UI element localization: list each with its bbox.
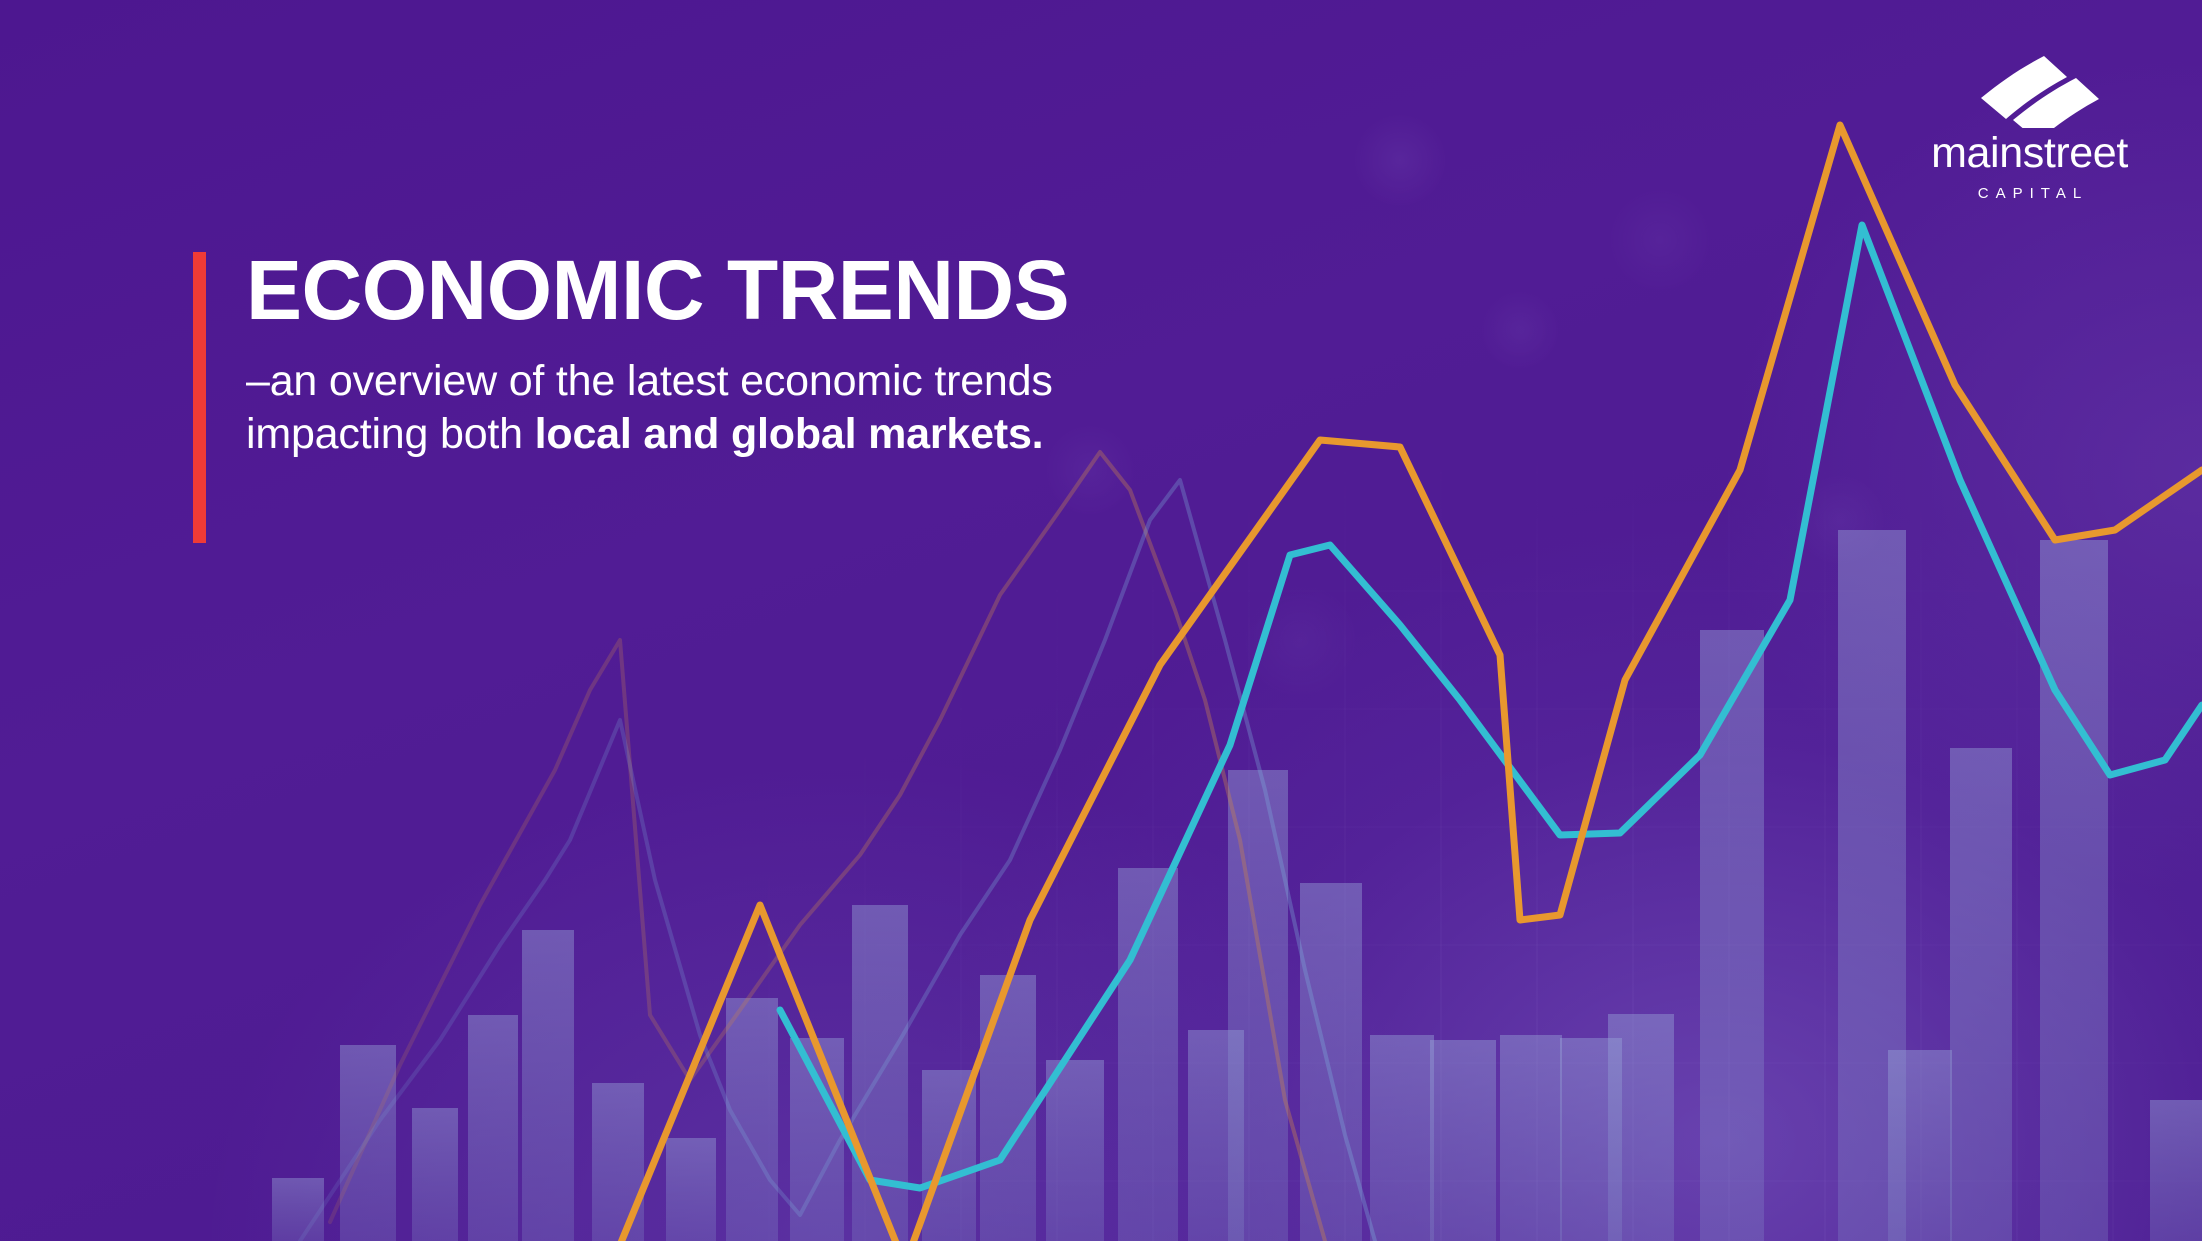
chart-bar [468, 1015, 518, 1241]
chart-bar [340, 1045, 396, 1241]
headline-text: ECONOMIC TRENDS –an overview of the late… [206, 252, 1069, 543]
chart-bar [1950, 748, 2012, 1241]
economic-trends-banner: ECONOMIC TRENDS –an overview of the late… [0, 0, 2202, 1241]
chart-bar [1228, 770, 1288, 1241]
chart-bar [1700, 630, 1764, 1241]
chart-bar [592, 1083, 644, 1241]
chart-bar [2040, 540, 2108, 1241]
logo-wordmark: mainstreet [1917, 132, 2142, 175]
chart-bar [1608, 1014, 1674, 1241]
chart-bar [1888, 1050, 1952, 1241]
chart-bar [666, 1138, 716, 1241]
page-subtitle: –an overview of the latest economic tren… [246, 355, 1069, 461]
accent-bar [193, 252, 206, 543]
chart-bar [272, 1178, 324, 1241]
background-market-chart [0, 0, 2202, 1241]
chart-bar [1046, 1060, 1104, 1241]
page-title: ECONOMIC TRENDS [246, 252, 1069, 329]
subtitle-line-2-bold: local and global markets. [535, 410, 1044, 458]
subtitle-line-2-plain: impacting both [246, 410, 535, 458]
chart-bar [2150, 1100, 2202, 1241]
chart-bar [1430, 1040, 1496, 1241]
brand-logo: mainstreet CAPITAL [1917, 50, 2142, 202]
chart-bar [1370, 1035, 1434, 1241]
logo-tagline: CAPITAL [1917, 185, 2142, 202]
double-ribbon-logo-icon [1917, 50, 2142, 128]
chart-bar [522, 930, 574, 1241]
chart-bar [412, 1108, 458, 1241]
chart-bars [272, 530, 2202, 1241]
chart-bar [980, 975, 1036, 1241]
chart-bar [1500, 1035, 1562, 1241]
subtitle-line-1: –an overview of the latest economic tren… [246, 357, 1053, 405]
headline-block: ECONOMIC TRENDS –an overview of the late… [193, 252, 1069, 543]
